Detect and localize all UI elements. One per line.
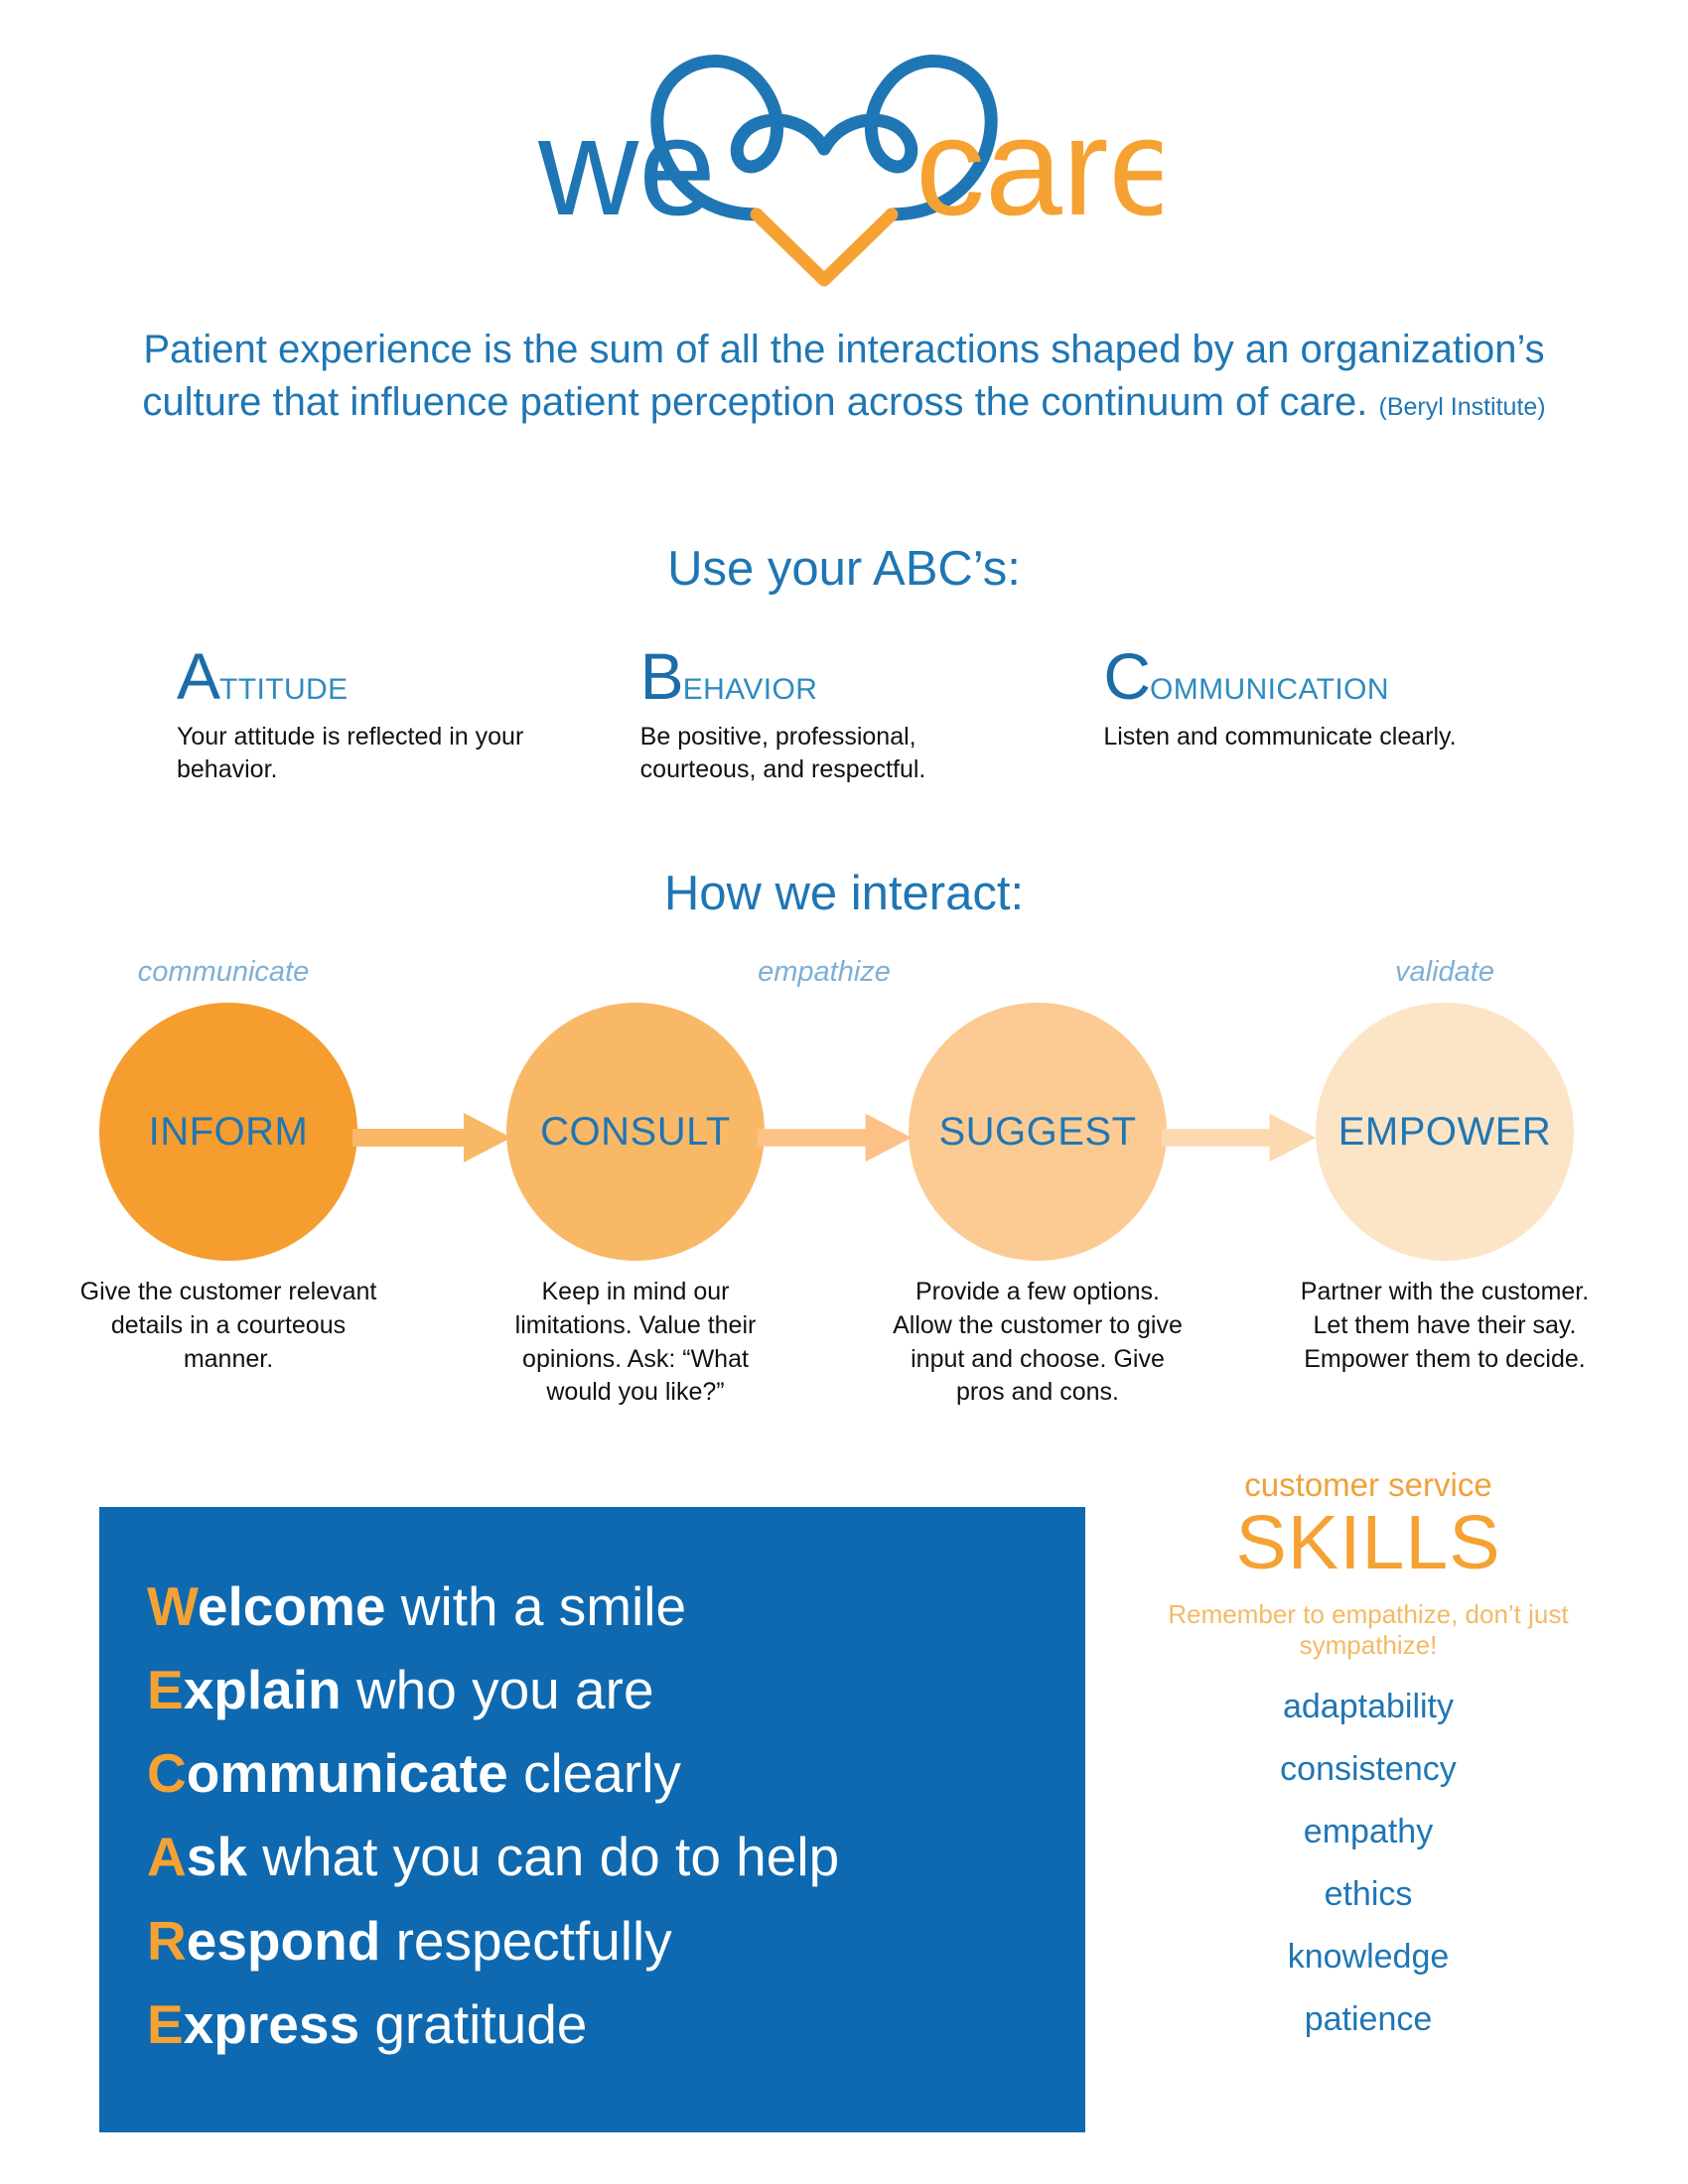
skill-item-patience: patience — [1110, 2002, 1626, 2036]
abc-word: BEHAVIOR — [640, 643, 1104, 709]
skill-item-adaptability: adaptability — [1110, 1690, 1626, 1723]
abc-initial: C — [1103, 639, 1150, 713]
flow-step-label: INFORM — [149, 1110, 309, 1155]
wecare-initial: W — [147, 1575, 198, 1637]
skills-list: adaptability consistency empathy ethics … — [1110, 1690, 1626, 2036]
flow-verb-validate: validate — [1296, 956, 1594, 989]
definition-source: (Beryl Institute) — [1379, 393, 1546, 421]
logo-word-we: we — [537, 88, 716, 244]
wecare-initial: A — [147, 1826, 187, 1887]
abc-word: ATTITUDE — [177, 643, 640, 709]
abc-description: Listen and communicate clearly. — [1103, 721, 1500, 753]
wecare-tail: respectfully — [380, 1910, 671, 1972]
flow-step-inform[interactable]: INFORM — [99, 1003, 357, 1261]
logo-block: we care — [0, 20, 1688, 298]
flow-verb-communicate: communicate — [74, 956, 372, 989]
skills-subtitle: customer service — [1110, 1467, 1626, 1503]
wecare-initial: R — [147, 1910, 187, 1972]
flow-step-caption: Provide a few options. Allow the custome… — [889, 1276, 1187, 1410]
patient-experience-definition: Patient experience is the sum of all the… — [129, 324, 1559, 429]
definition-text: Patient experience is the sum of all the… — [142, 328, 1544, 424]
flow-arrow-icon-1 — [352, 1099, 516, 1176]
wecare-line-communicate: Communicate clearly — [147, 1731, 1085, 1815]
skill-item-knowledge: knowledge — [1110, 1940, 1626, 1974]
abc-item-attitude: ATTITUDE Your attitude is reflected in y… — [177, 643, 640, 786]
flow-step-consult[interactable]: CONSULT — [506, 1003, 765, 1261]
skills-note: Remember to empathize, don’t just sympat… — [1110, 1599, 1626, 1661]
abc-description: Be positive, professional, courteous, an… — [640, 721, 1038, 786]
abc-rest: OMMUNICATION — [1150, 673, 1389, 706]
abc-rest: TTITUDE — [219, 673, 348, 706]
skill-item-ethics: ethics — [1110, 1877, 1626, 1911]
flow-verb-empathize: empathize — [675, 956, 973, 989]
skill-item-empathy: empathy — [1110, 1815, 1626, 1848]
flow-arrow-icon-2 — [758, 1099, 916, 1176]
interaction-flow: communicate empathize validate INFORM CO… — [0, 948, 1688, 1434]
wecare-tail: gratitude — [359, 1993, 587, 2055]
flow-step-label: SUGGEST — [938, 1110, 1136, 1155]
skills-title: SKILLS — [1110, 1505, 1626, 1581]
wecare-line-welcome: Welcome with a smile — [147, 1565, 1085, 1648]
flow-step-caption: Keep in mind our limitations. Value thei… — [487, 1276, 784, 1410]
interact-heading: How we interact: — [0, 866, 1688, 921]
wecare-initial: E — [147, 1659, 184, 1720]
wecare-line-respond: Respond respectfully — [147, 1899, 1085, 1982]
wecare-tail: what you can do to help — [247, 1826, 839, 1887]
flow-step-label: EMPOWER — [1338, 1110, 1552, 1155]
abc-initial: B — [640, 639, 683, 713]
wecare-initial: E — [147, 1993, 184, 2055]
wecare-line-ask: Ask what you can do to help — [147, 1815, 1085, 1898]
abc-item-behavior: BEHAVIOR Be positive, professional, cour… — [640, 643, 1104, 786]
we-care-logo: we care — [526, 20, 1162, 298]
wecare-keyword: elcome — [198, 1575, 386, 1637]
wecare-line-express: Express gratitude — [147, 1982, 1085, 2066]
flow-step-empower[interactable]: EMPOWER — [1316, 1003, 1574, 1261]
wecare-keyword: ommunicate — [187, 1742, 508, 1804]
flow-step-suggest[interactable]: SUGGEST — [909, 1003, 1167, 1261]
flow-step-caption: Give the customer relevant details in a … — [79, 1276, 377, 1376]
logo-word-care: care — [915, 88, 1162, 244]
wecare-keyword: xpress — [184, 1993, 359, 2055]
wecare-acronym-panel: Welcome with a smile Explain who you are… — [99, 1507, 1085, 2132]
abc-description: Your attitude is reflected in your behav… — [177, 721, 574, 786]
flow-arrow-icon-3 — [1162, 1099, 1321, 1176]
wecare-tail: who you are — [342, 1659, 654, 1720]
abc-word: COMMUNICATION — [1103, 643, 1567, 709]
skill-item-consistency: consistency — [1110, 1752, 1626, 1786]
wecare-line-explain: Explain who you are — [147, 1648, 1085, 1731]
flow-step-caption: Partner with the customer. Let them have… — [1296, 1276, 1594, 1376]
wecare-initial: C — [147, 1742, 187, 1804]
abc-item-communication: COMMUNICATION Listen and communicate cle… — [1103, 643, 1567, 786]
customer-service-skills-panel: customer service SKILLS Remember to empa… — [1110, 1467, 1626, 2065]
flow-step-label: CONSULT — [540, 1110, 731, 1155]
abc-initial: A — [177, 639, 219, 713]
wecare-keyword: espond — [187, 1910, 381, 1972]
abc-heading: Use your ABC’s: — [0, 541, 1688, 597]
wecare-keyword: sk — [187, 1826, 247, 1887]
abc-rest: EHAVIOR — [683, 673, 818, 706]
wecare-keyword: xplain — [184, 1659, 342, 1720]
wecare-tail: clearly — [508, 1742, 681, 1804]
abc-row: ATTITUDE Your attitude is reflected in y… — [177, 643, 1567, 786]
wecare-tail: with a smile — [385, 1575, 686, 1637]
